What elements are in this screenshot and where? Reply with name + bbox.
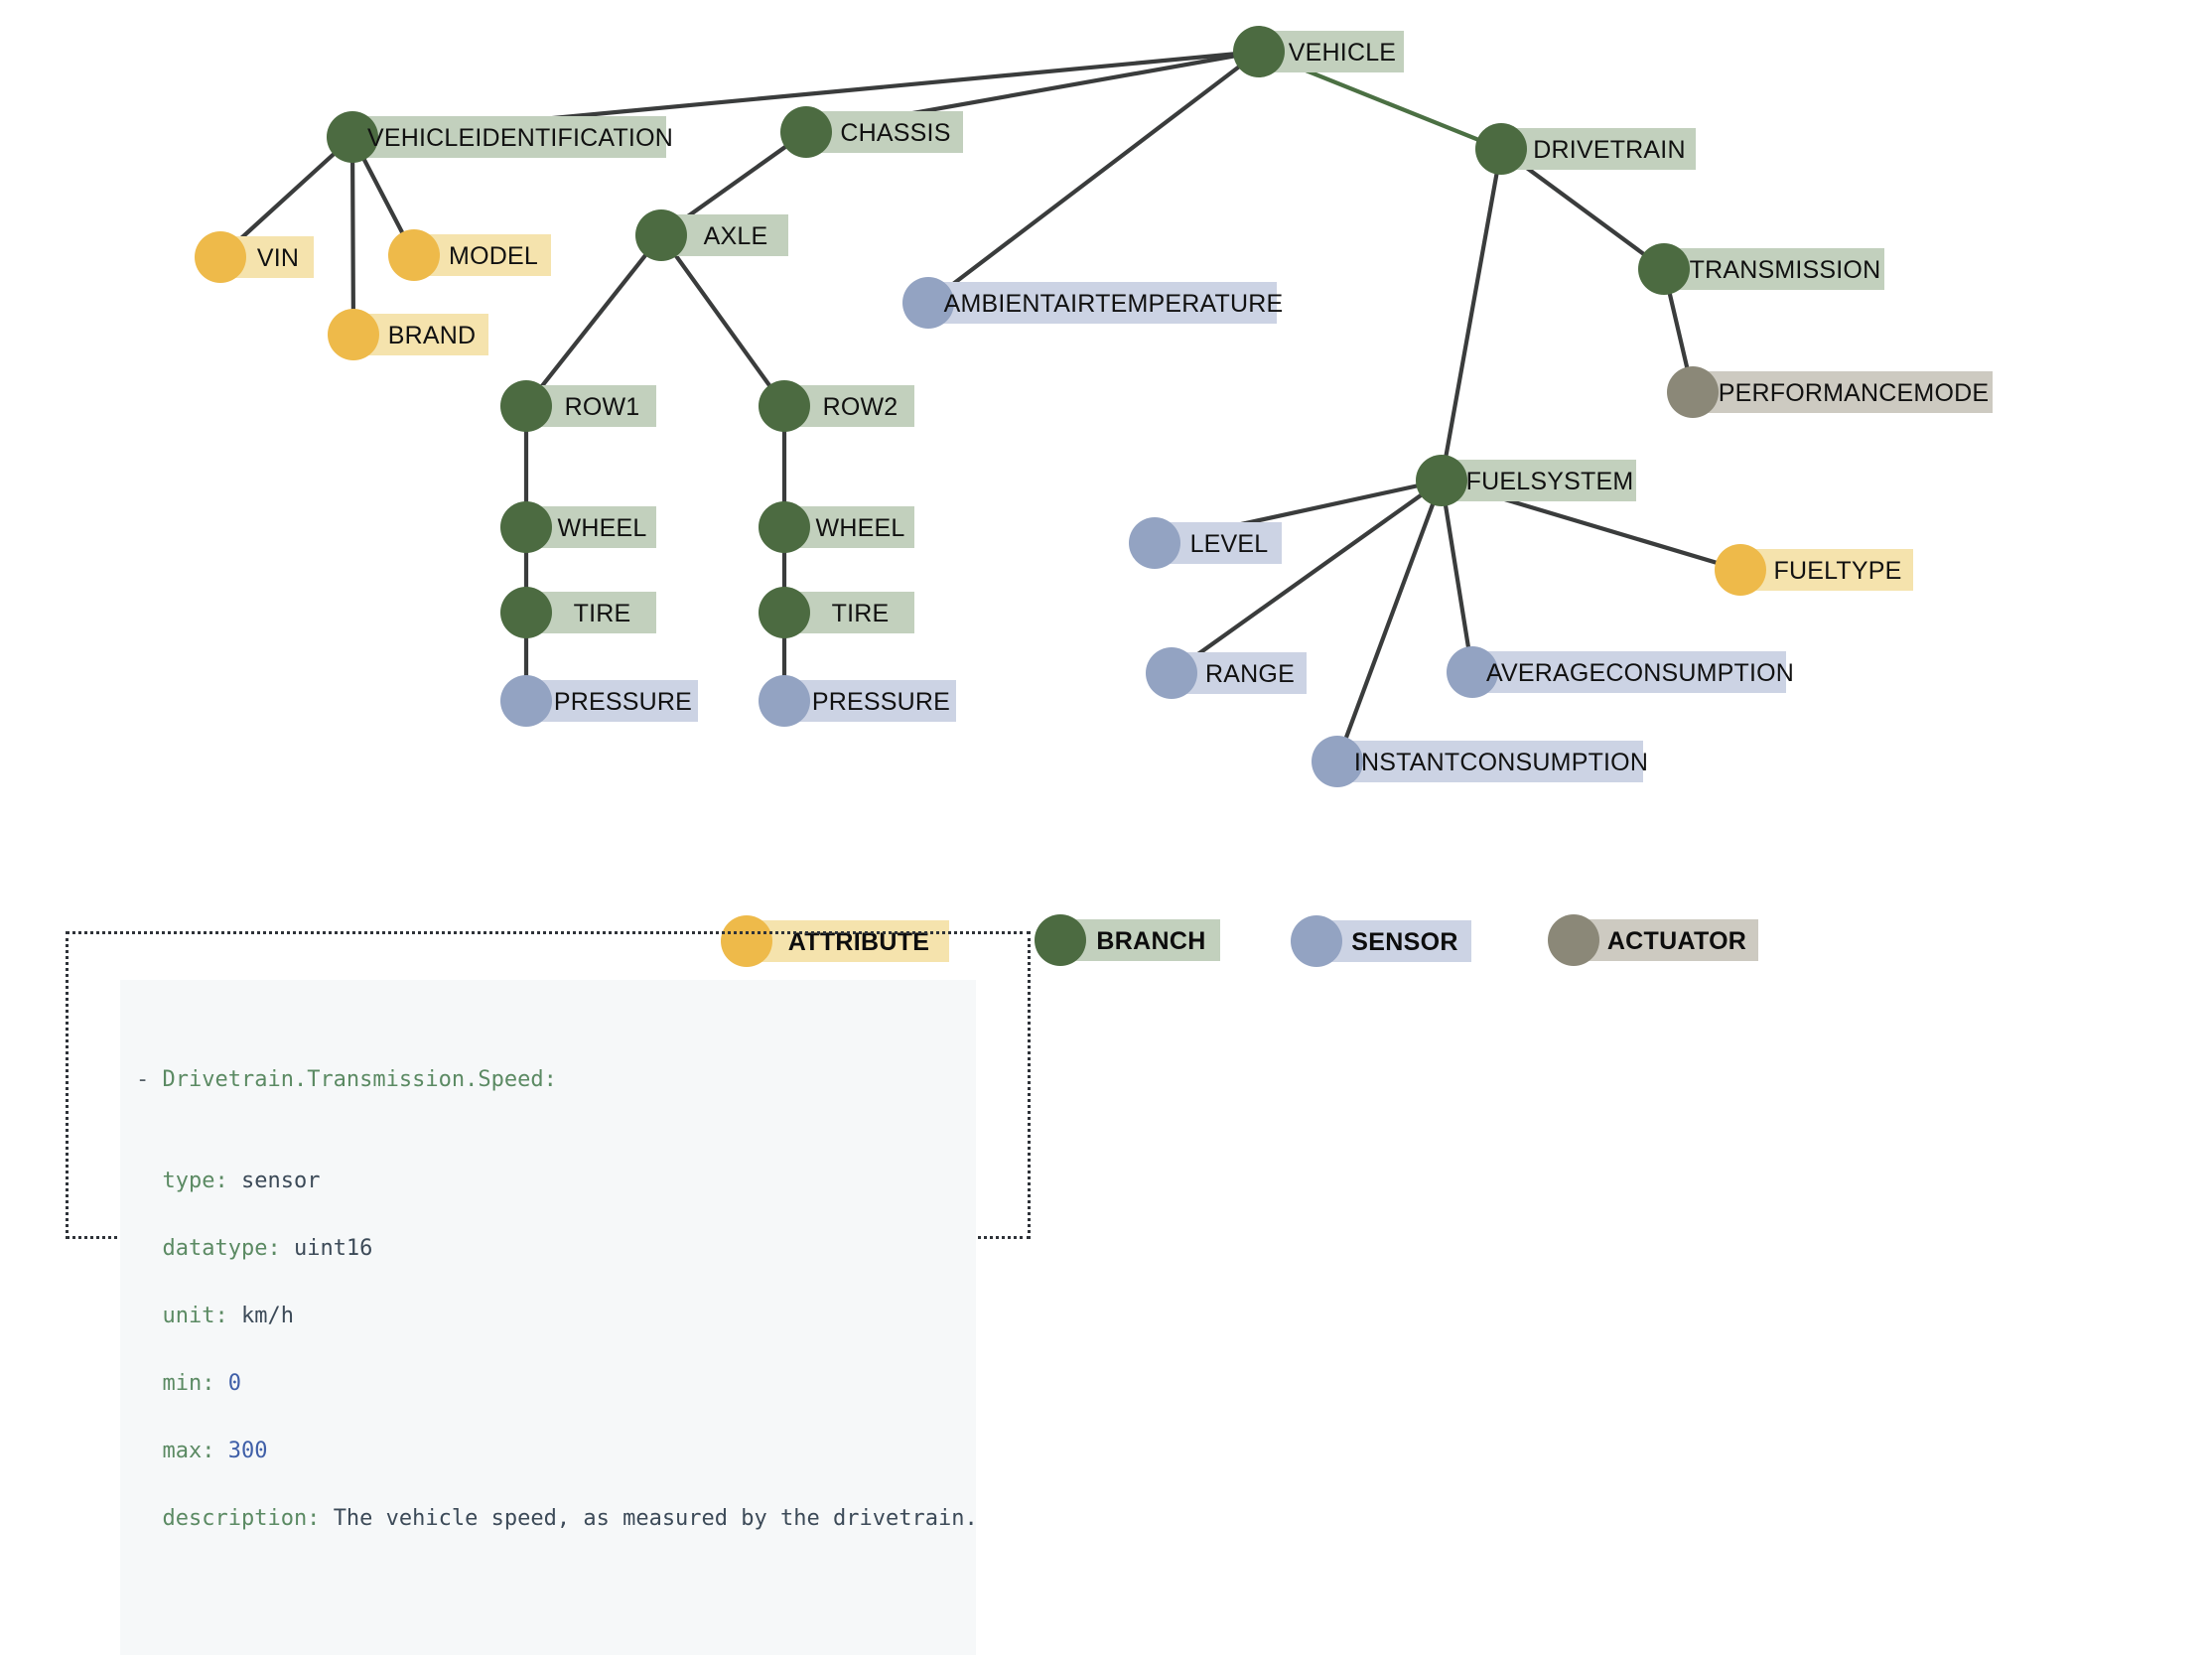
node-label-text: AVERAGECONSUMPTION xyxy=(1486,659,1794,687)
yaml-row-max: max: 300 xyxy=(136,1435,960,1468)
node-label-text: WHEEL xyxy=(558,514,647,542)
yaml-value: sensor xyxy=(241,1169,320,1193)
yaml-callout-box: - Drivetrain.Transmission.Speed: type: s… xyxy=(66,931,1031,1239)
tree-node-vin[interactable]: VIN xyxy=(195,231,314,283)
node-circle-branch[interactable] xyxy=(1416,455,1467,506)
tree-node-vehicle[interactable]: VEHICLE xyxy=(1233,26,1404,77)
node-label-text: FUELSYSTEM xyxy=(1466,468,1634,495)
node-label-text: ROW2 xyxy=(823,393,899,421)
node-circle-sensor[interactable] xyxy=(1146,647,1197,699)
node-circle-branch[interactable] xyxy=(500,587,552,638)
tree-node-wheel[interactable]: WHEEL xyxy=(759,501,914,553)
yaml-row-unit: unit: km/h xyxy=(136,1300,960,1333)
node-label-text: VEHICLEIDENTIFICATION xyxy=(367,124,673,152)
yaml-row-type: type: sensor xyxy=(136,1165,960,1198)
node-circle-branch[interactable] xyxy=(635,209,687,261)
tree-node-brand[interactable]: BRAND xyxy=(328,309,488,360)
yaml-value: 0 xyxy=(228,1371,241,1396)
node-circle-actuator[interactable] xyxy=(1667,366,1719,418)
graph-edge xyxy=(352,137,353,335)
tree-node-instantconsumption[interactable]: INSTANTCONSUMPTION xyxy=(1312,736,1648,787)
node-circle-sensor[interactable] xyxy=(1129,517,1180,569)
tree-node-averageconsumption[interactable]: AVERAGECONSUMPTION xyxy=(1447,646,1794,698)
yaml-property-rows: type: sensor datatype: uint16 unit: km/h… xyxy=(136,1165,960,1536)
node-label-text: FUELTYPE xyxy=(1774,557,1902,585)
node-label-text: CHASSIS xyxy=(840,119,950,147)
yaml-key: description: xyxy=(136,1506,334,1531)
node-circle-sensor[interactable] xyxy=(1291,915,1342,967)
yaml-key: max: xyxy=(136,1439,228,1463)
yaml-row-datatype: datatype: uint16 xyxy=(136,1232,960,1266)
node-circle-branch[interactable] xyxy=(1475,123,1527,175)
node-circle-sensor[interactable] xyxy=(759,675,810,727)
node-label-text: RANGE xyxy=(1205,660,1295,688)
node-label-text: VIN xyxy=(257,244,299,272)
node-circle-branch[interactable] xyxy=(1233,26,1285,77)
graph-edge xyxy=(661,235,784,406)
node-circle-branch[interactable] xyxy=(500,501,552,553)
node-label-text: AMBIENTAIRTEMPERATURE xyxy=(944,290,1284,318)
node-circle-attribute[interactable] xyxy=(195,231,246,283)
tree-node-wheel[interactable]: WHEEL xyxy=(500,501,656,553)
yaml-code-block: - Drivetrain.Transmission.Speed: type: s… xyxy=(120,980,976,1655)
tree-node-fueltype[interactable]: FUELTYPE xyxy=(1715,544,1913,596)
node-circle-actuator[interactable] xyxy=(1548,914,1599,966)
node-circle-branch[interactable] xyxy=(759,587,810,638)
tree-node-tire[interactable]: TIRE xyxy=(500,587,656,638)
yaml-signal-path: Drivetrain.Transmission.Speed: xyxy=(163,1067,557,1092)
node-label-text: VEHICLE xyxy=(1289,39,1396,67)
node-circle-branch[interactable] xyxy=(1035,914,1086,966)
node-label-text: PRESSURE xyxy=(554,688,692,716)
yaml-row-description: description: The vehicle speed, as measu… xyxy=(136,1502,960,1536)
yaml-key: datatype: xyxy=(136,1236,294,1261)
node-label-text: SENSOR xyxy=(1351,928,1457,956)
node-circle-branch[interactable] xyxy=(780,106,832,158)
node-label-text: TIRE xyxy=(832,600,890,627)
node-circle-branch[interactable] xyxy=(759,501,810,553)
tree-node-pressure[interactable]: PRESSURE xyxy=(500,675,698,727)
tree-node-performancemode[interactable]: PERFORMANCEMODE xyxy=(1667,366,1993,418)
node-circle-branch[interactable] xyxy=(500,380,552,432)
node-label-text: ACTUATOR xyxy=(1607,927,1746,955)
tree-node-chassis[interactable]: CHASSIS xyxy=(780,106,963,158)
yaml-key: unit: xyxy=(136,1304,241,1328)
yaml-row-min: min: 0 xyxy=(136,1367,960,1401)
tree-node-pressure[interactable]: PRESSURE xyxy=(759,675,956,727)
node-circle-branch[interactable] xyxy=(1638,243,1690,295)
node-circle-attribute[interactable] xyxy=(1715,544,1766,596)
yaml-key: min: xyxy=(136,1371,228,1396)
node-label-text: PRESSURE xyxy=(812,688,950,716)
tree-node-row2[interactable]: ROW2 xyxy=(759,380,914,432)
yaml-value: uint16 xyxy=(294,1236,372,1261)
graph-edge xyxy=(1442,481,1472,672)
node-label-text: MODEL xyxy=(449,242,538,270)
yaml-dash: - xyxy=(136,1067,163,1092)
node-label-text: ROW1 xyxy=(565,393,640,421)
tree-node-axle[interactable]: AXLE xyxy=(635,209,788,261)
node-label-text: TIRE xyxy=(574,600,631,627)
node-label-text: WHEEL xyxy=(816,514,905,542)
node-circle-attribute[interactable] xyxy=(388,229,440,281)
tree-node-range[interactable]: RANGE xyxy=(1146,647,1307,699)
graph-nodes: VEHICLEVEHICLEIDENTIFICATIONCHASSISDRIVE… xyxy=(195,26,1993,787)
node-label-text: TRANSMISSION xyxy=(1690,256,1881,284)
yaml-path-row: - Drivetrain.Transmission.Speed: xyxy=(136,1063,960,1097)
node-label-text: BRAND xyxy=(388,322,477,349)
node-label-text: BRANCH xyxy=(1096,927,1205,955)
tree-node-model[interactable]: MODEL xyxy=(388,229,551,281)
node-label-text: LEVEL xyxy=(1190,530,1269,558)
graph-edge xyxy=(1337,481,1442,761)
tree-node-row1[interactable]: ROW1 xyxy=(500,380,656,432)
legend-item-sensor[interactable]: SENSOR xyxy=(1291,915,1471,967)
tree-node-fuelsystem[interactable]: FUELSYSTEM xyxy=(1416,455,1636,506)
tree-node-level[interactable]: LEVEL xyxy=(1129,517,1282,569)
legend-item-actuator[interactable]: ACTUATOR xyxy=(1548,914,1758,966)
graph-edge xyxy=(928,52,1259,303)
node-label-text: INSTANTCONSUMPTION xyxy=(1354,749,1648,776)
node-circle-sensor[interactable] xyxy=(500,675,552,727)
node-label-text: PERFORMANCEMODE xyxy=(1719,379,1989,407)
node-label-text: AXLE xyxy=(704,222,768,250)
node-circle-branch[interactable] xyxy=(759,380,810,432)
tree-node-transmission[interactable]: TRANSMISSION xyxy=(1638,243,1884,295)
node-label-text: DRIVETRAIN xyxy=(1533,136,1685,164)
node-circle-attribute[interactable] xyxy=(328,309,379,360)
legend-item-branch[interactable]: BRANCH xyxy=(1035,914,1220,966)
yaml-value: The vehicle speed, as measured by the dr… xyxy=(334,1506,978,1531)
graph-edge xyxy=(1442,149,1501,481)
tree-node-vehicleidentification[interactable]: VEHICLEIDENTIFICATION xyxy=(327,111,673,163)
tree-node-drivetrain[interactable]: DRIVETRAIN xyxy=(1475,123,1696,175)
tree-node-tire[interactable]: TIRE xyxy=(759,587,914,638)
yaml-value: km/h xyxy=(241,1304,294,1328)
yaml-value: 300 xyxy=(228,1439,268,1463)
tree-node-ambientairtemperature[interactable]: AMBIENTAIRTEMPERATURE xyxy=(902,277,1283,329)
yaml-key: type: xyxy=(136,1169,241,1193)
